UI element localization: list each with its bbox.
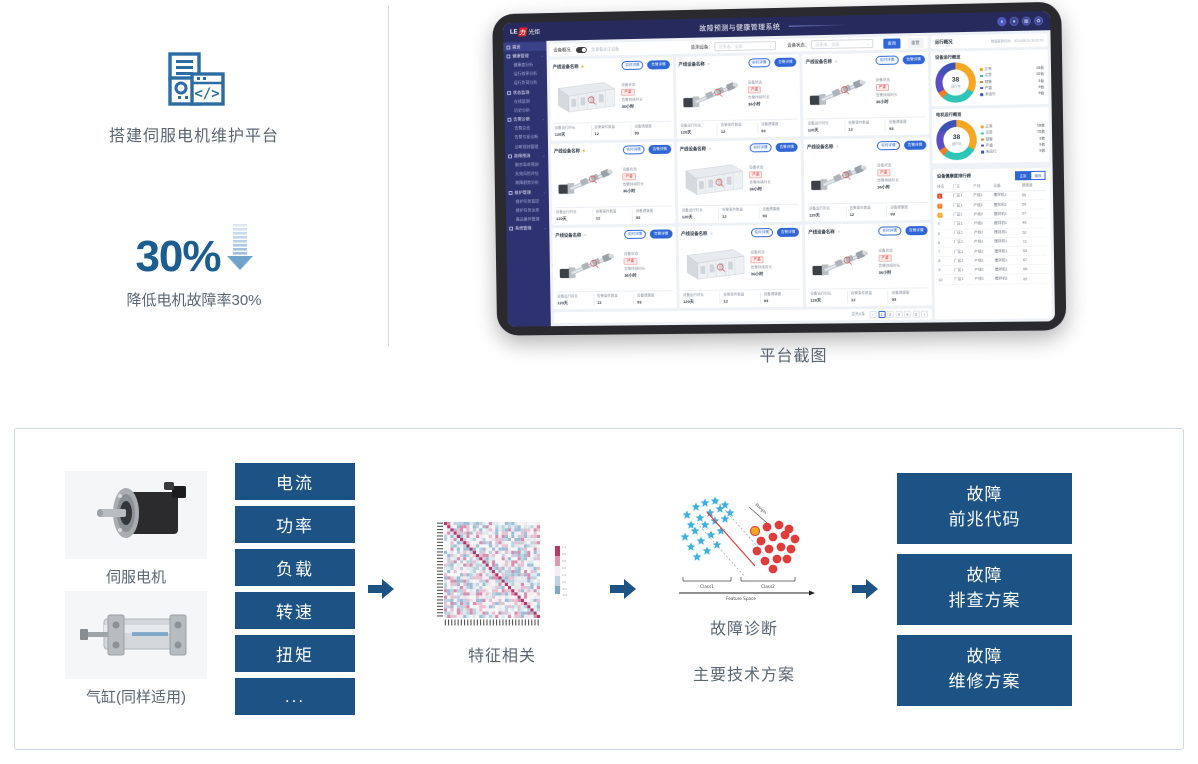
heart-icon <box>506 54 510 58</box>
metric-value: 12 <box>851 297 888 302</box>
legend-label: 正常 <box>985 124 992 129</box>
svg-text:0.6: 0.6 <box>562 559 566 563</box>
rank-badge: 1 <box>937 194 942 199</box>
card-title: 产线设备名称 <box>678 61 704 68</box>
figure-scatter: Margin Class1 Class2 Feature Space 故障诊断 … <box>649 493 839 685</box>
card-title: 产线设备名称 <box>681 230 707 236</box>
legend-item: 预警 3台 <box>981 136 1045 142</box>
status-label: 设备状态 <box>878 248 928 254</box>
realtime-detail-button[interactable]: 实时详情 <box>621 61 643 70</box>
user-icon[interactable]: ● <box>1009 17 1018 26</box>
donut-chart: 38 运行中 <box>936 119 977 160</box>
cell-line: 产线1 <box>974 228 994 238</box>
status-filter-label: 设备状态： <box>787 42 809 48</box>
card-footer: 设备运行时长 120天 告警事件数量 12 设备健康度 93 <box>681 204 799 221</box>
legend-color-dot <box>981 151 984 154</box>
arrow-step-2 <box>597 578 649 600</box>
donut-row: 38 运行中 正常 18台 注意 15台 预警 3台 严重 9台 <box>936 118 1045 160</box>
pager-page-4[interactable]: 4 <box>904 311 911 318</box>
cell-score: 52 <box>1022 227 1046 237</box>
cell-score: 67 <box>1023 255 1047 265</box>
card-metrics: 设备状态 严重 告警持续时长 36小时 <box>622 156 671 204</box>
technical-solution-panel: 伺服电机 <box>14 428 1184 750</box>
main-region: 设备概况 仅查看关注设备 监测设备： 可多选、全选 ⌄ <box>546 30 1055 326</box>
screenshot-caption: 平台截图 <box>389 342 1198 366</box>
overview-title: 运行概况 <box>935 39 953 45</box>
legend-label: 预警 <box>986 137 993 142</box>
rank-header: 设备健康度排行榜 正序倒序 <box>937 171 1046 182</box>
pager-page-1[interactable]: 1 <box>878 311 885 318</box>
device-card[interactable]: 产线设备名称 ★ 实时详情 告警详情 设备状态 严重 告警持续时长 36小时 设… <box>552 226 676 309</box>
status-label: 设备状态 <box>877 162 927 168</box>
realtime-detail-button[interactable]: 实时详情 <box>878 226 901 235</box>
param-box-2: 负载 <box>235 549 355 586</box>
donut-legend: 正常 18台 注意 15台 预警 3台 严重 9台 未运行 9台 <box>980 66 1045 97</box>
legend-item: 注意 15台 <box>980 72 1044 78</box>
metric-value: 12 <box>595 131 631 137</box>
cell-area: 厂区1 <box>953 219 973 229</box>
metric-value: 93 <box>761 128 798 134</box>
metric-label: 告警事件数量 <box>851 291 888 296</box>
metric-label: 设备运行时长 <box>557 294 593 299</box>
pagination[interactable]: 总共9条 ‹ 12345 › <box>554 308 933 323</box>
realtime-detail-button[interactable]: 实时详情 <box>749 143 771 152</box>
metric-label: 设备运行时长 <box>808 121 845 127</box>
cell-area: 厂区1 <box>953 191 973 201</box>
arrow-right-icon <box>368 578 394 600</box>
sidebar-item-label: 备品备件管理 <box>516 216 540 222</box>
panel-title: 电机运行概览 <box>936 110 1045 118</box>
cell-rank: 10 <box>938 275 954 284</box>
legend-value: 18台 <box>1036 66 1044 71</box>
favorite-star-icon[interactable]: ★ <box>580 63 584 69</box>
app-title: 故障预测与健康管理系统 <box>699 23 780 32</box>
duration-label: 告警持续时长 <box>878 263 928 269</box>
output-line1: 故障 <box>967 645 1003 670</box>
legend-item: 未运行 9台 <box>980 91 1044 97</box>
device-image <box>555 241 621 289</box>
cell-area: 厂区1 <box>954 265 974 274</box>
sidebar-item-label: 系统管理 <box>515 226 531 232</box>
legend-value: 9台 <box>1039 142 1045 147</box>
footer-metric: 告警事件数量 12 <box>719 292 760 304</box>
favorite-star-icon[interactable]: ★ <box>835 143 839 149</box>
status-label: 设备状态 <box>623 166 672 172</box>
duration-value: 36小时 <box>879 269 929 276</box>
legend-color-dot <box>980 93 983 96</box>
legend-color-dot <box>980 87 983 90</box>
cell-score: 67 <box>1022 209 1046 219</box>
status-select-value: 可多选、全选 <box>815 41 839 48</box>
metric-label: 告警事件数量 <box>597 294 633 299</box>
cell-area: 厂区1 <box>954 228 974 238</box>
pager-page-2[interactable]: 2 <box>887 311 894 318</box>
legend-label: 严重 <box>985 86 992 91</box>
legend-item: 注意 15台 <box>981 130 1045 136</box>
wrench-icon <box>509 191 513 195</box>
sidebar-item-label: 历史分析 <box>514 107 530 113</box>
cell-score: 46 <box>1022 218 1046 228</box>
donut-panels: 设备运行概览 38 运行中 正常 18台 注意 15台 预警 3台 <box>931 49 1050 166</box>
rank-badge: 2 <box>937 203 942 208</box>
cell-line: 产线2 <box>974 210 994 220</box>
param-box-1: 功率 <box>235 506 355 543</box>
footer-metric: 告警事件数量 12 <box>844 120 885 133</box>
device-select[interactable]: 可多选、全选 ⌄ <box>714 41 776 51</box>
rank-column-header: 排名 <box>937 183 953 192</box>
footer-metric: 设备健康度 93 <box>633 293 673 305</box>
footer-metric: 设备健康度 93 <box>630 124 670 137</box>
metric-label: 设备运行时长 <box>682 208 718 213</box>
favorite-star-icon[interactable]: ★ <box>837 229 841 235</box>
legend-color-dot <box>981 138 984 141</box>
status-badge: 严重 <box>876 83 889 90</box>
legend-label: 未运行 <box>985 92 996 97</box>
cell-device: 搅拌机1 <box>994 209 1022 219</box>
card-title: 产线设备名称 <box>806 58 832 65</box>
footer-metric: 设备运行时长 120天 <box>556 294 593 306</box>
cell-area: 厂区1 <box>954 238 974 248</box>
cell-score: 72 <box>1023 237 1047 247</box>
sidebar-item-label: 健康管理 <box>512 53 528 59</box>
metric-value: 12 <box>722 213 758 218</box>
arrow-right-icon <box>610 578 636 600</box>
sidebar-item-label: 健康度分析 <box>513 62 533 68</box>
alarm-detail-button[interactable]: 告警详情 <box>649 145 671 154</box>
sidebar-item-20[interactable]: 系统管理⌄ <box>506 224 549 234</box>
cell-area: 厂区1 <box>953 201 973 211</box>
card-metrics: 设备状态 严重 告警持续时长 36小时 <box>875 66 925 115</box>
metric-label: 设备健康度 <box>761 122 798 128</box>
metric-label: 告警事件数量 <box>722 207 758 213</box>
cell-rank: 3 <box>937 210 953 219</box>
cell-line: 产线1 <box>975 274 995 283</box>
heatmap-caption: 特征相关 <box>468 642 536 666</box>
table-row[interactable]: 10 厂区1 产线1 搅拌机1 82 <box>938 274 1047 284</box>
rank-tab[interactable]: 正序 <box>1015 171 1030 180</box>
metric-value: 120天 <box>557 300 593 306</box>
metric-label: 设备健康度 <box>637 293 673 298</box>
sidebar-item-label: 维护任务监控 <box>516 198 540 204</box>
overview-panel-1: 电机运行概览 38 运行中 正常 18台 注意 15台 预警 3台 <box>932 107 1050 163</box>
card-title: 产线设备名称 <box>555 232 581 238</box>
percent-caption: 降低电机故障率30% <box>126 289 261 310</box>
bell-icon[interactable]: ♦ <box>997 17 1006 26</box>
chevron-down-icon: ⌄ <box>769 43 772 48</box>
rank-sort-tabs[interactable]: 正序倒序 <box>1015 171 1045 181</box>
cell-line: 产线1 <box>973 200 993 210</box>
metric-label: 设备健康度 <box>890 205 927 211</box>
status-label: 设备状态 <box>876 77 926 83</box>
footer-metric: 告警事件数量 12 <box>718 207 759 220</box>
realtime-detail-button[interactable]: 实时详情 <box>877 141 900 150</box>
card-metrics: 设备状态 严重 告警持续时长 36小时 <box>624 240 673 288</box>
duration-value: 36小时 <box>623 187 672 194</box>
cell-rank: 4 <box>938 219 954 228</box>
sidebar-item-label: 告警总览 <box>514 126 530 132</box>
cell-rank: 1 <box>937 192 953 201</box>
legend-color-dot <box>980 74 983 77</box>
card-footer: 设备运行时长 120天 告警事件数量 12 设备健康度 93 <box>808 202 928 219</box>
settings-icon <box>509 227 513 231</box>
sidebar[interactable]: 首页健康管理⌄健康度分析运行效率分析运行负荷分析状态监测在线监测历史分析告警诊断… <box>503 41 550 327</box>
duration-label: 告警持续时长 <box>621 96 670 102</box>
metric-value: 120天 <box>682 214 718 220</box>
card-metrics: 设备状态 严重 告警持续时长 36小时 <box>878 237 928 286</box>
favorite-star-icon[interactable]: ★ <box>582 148 586 154</box>
alarm-detail-button[interactable]: 告警详情 <box>902 55 925 65</box>
platform-code-icon: </> <box>161 52 227 108</box>
realtime-detail-button[interactable]: 实时详情 <box>751 228 773 237</box>
metric-label: 设备健康度 <box>889 119 926 125</box>
legend-value: 15台 <box>1036 72 1044 77</box>
card-body: 设备状态 严重 告警持续时长 36小时 <box>680 152 799 206</box>
alarm-detail-button[interactable]: 告警详情 <box>650 229 672 238</box>
cell-score: 53 <box>1023 246 1047 256</box>
metric-label: 告警事件数量 <box>594 125 630 131</box>
footer-metric: 设备健康度 93 <box>632 208 672 221</box>
sidebar-item-label: 剩余寿命预测 <box>515 162 539 168</box>
metric-label: 设备健康度 <box>636 208 672 213</box>
card-metrics: 设备状态 严重 告警持续时长 36小时 <box>621 71 670 120</box>
footer-metric: 设备运行时长 120天 <box>554 125 591 138</box>
device-card[interactable]: 产线设备名称 ★ 实时详情 告警详情 设备状态 严重 告警持续时长 36小时 设… <box>804 137 931 221</box>
svg-text:0.0: 0.0 <box>562 580 566 584</box>
realtime-detail-button[interactable]: 实时详情 <box>748 58 770 67</box>
scatter-caption: 故障诊断 <box>710 615 778 639</box>
donut-center: 38 运行中 <box>935 62 976 103</box>
chevron-down-icon: ⌄ <box>544 226 547 230</box>
metric-label: 设备健康度 <box>762 207 799 213</box>
cell-device: 搅拌机1 <box>995 274 1023 284</box>
metric-value: 12 <box>597 300 633 305</box>
update-time: 数据更新时间：2020/05/20 08:00:00 <box>991 37 1044 43</box>
status-label: 设备状态 <box>749 164 798 170</box>
status-badge: 严重 <box>624 257 637 264</box>
device-card[interactable]: 产线设备名称 ★ 实时详情 告警详情 设备状态 严重 告警持续时长 36小时 设… <box>675 55 800 139</box>
grid-icon[interactable]: ▦ <box>1022 16 1031 25</box>
metric-value: 12 <box>723 298 759 303</box>
alarm-detail-button[interactable]: 告警详情 <box>776 143 798 152</box>
rank-tab[interactable]: 倒序 <box>1030 171 1045 180</box>
device-card[interactable]: 产线设备名称 ★ 实时详情 告警详情 设备状态 严重 告警持续时长 36小时 <box>550 57 674 141</box>
legend-label: 未运行 <box>986 149 997 154</box>
footer-metric: 设备健康度 93 <box>885 119 926 132</box>
device-image <box>553 72 619 121</box>
overview-label: 设备概况 <box>553 47 570 53</box>
logo-text-le: LE <box>510 29 518 35</box>
svg-text:Class1: Class1 <box>700 584 714 589</box>
metric-value: 93 <box>764 298 801 303</box>
parameter-column: 电流功率负载转速扭矩... <box>235 463 355 715</box>
legend-item: 严重 9台 <box>980 85 1044 91</box>
favorite-star-icon[interactable]: ★ <box>708 146 712 152</box>
status-select[interactable]: 可多选、全选 ⌄ <box>811 39 873 49</box>
cell-device: 搅拌机1 <box>994 218 1022 228</box>
footer-metric: 设备健康度 93 <box>757 122 798 135</box>
metric-value: 120天 <box>810 297 847 303</box>
focus-toggle[interactable] <box>576 46 587 52</box>
status-badge: 严重 <box>878 254 891 261</box>
footer-metric: 设备运行时长 120天 <box>555 210 592 222</box>
pager-total: 总共9条 <box>851 312 865 317</box>
logo-mark: 力 <box>518 27 528 36</box>
metric-label: 设备运行时长 <box>810 291 847 296</box>
device-card[interactable]: 产线设备名称 ★ 实时详情 告警详情 设备状态 严重 告警持续时长 36小时 <box>678 225 803 308</box>
footer-metric: 设备健康度 93 <box>758 207 799 220</box>
percent-block: 30% <box>135 224 252 279</box>
cell-score: 68 <box>1023 265 1047 275</box>
metric-value: 93 <box>890 211 927 217</box>
down-arrow-icon <box>227 224 253 277</box>
status-badge: 严重 <box>877 169 890 176</box>
svg-text:0.2: 0.2 <box>562 573 566 577</box>
svg-text:-0.2: -0.2 <box>562 587 567 591</box>
rank-badge: 3 <box>937 212 942 217</box>
device-filter: 监测设备： 可多选、全选 ⌄ <box>691 41 777 52</box>
chevron-down-icon: ⌄ <box>866 41 869 46</box>
pager-page-3[interactable]: 3 <box>895 311 902 318</box>
footer-metric: 设备健康度 93 <box>886 205 927 218</box>
arrow-right-icon <box>852 578 878 600</box>
search-button[interactable]: 查询 <box>883 38 900 48</box>
favorite-star-icon[interactable]: ★ <box>834 58 838 64</box>
sidebar-item-label: 运行负荷分析 <box>514 80 538 86</box>
alarm-detail-button[interactable]: 告警详情 <box>777 228 800 237</box>
card-footer: 设备运行时长 120天 告警事件数量 12 设备健康度 93 <box>679 119 797 136</box>
output-line2: 维修方案 <box>949 670 1021 695</box>
sidebar-item-label: 运行效率分析 <box>514 71 538 77</box>
legend-value: 9台 <box>1039 148 1045 153</box>
duration-label: 告警持续时长 <box>623 181 672 187</box>
device-card[interactable]: 产线设备名称 ★ 实时详情 告警详情 设备状态 严重 告警持续时长 36小时 设… <box>551 142 675 225</box>
metric-value: 93 <box>637 299 673 304</box>
device-image <box>679 70 746 119</box>
metric-label: 设备健康度 <box>764 292 801 297</box>
cell-rank: 9 <box>938 266 954 275</box>
sidebar-item-label: 诊断规则管理 <box>515 144 539 150</box>
card-title: 产线设备名称 <box>807 144 834 150</box>
cell-area: 厂区1 <box>954 275 974 284</box>
metric-label: 告警事件数量 <box>721 122 757 128</box>
percent-value: 30% <box>135 235 220 279</box>
cell-device: 搅拌机1 <box>995 265 1023 275</box>
device-image <box>680 154 747 203</box>
footer-metric: 告警事件数量 12 <box>847 291 888 303</box>
gear-icon[interactable]: ✿ <box>1034 16 1043 25</box>
output-column: 故障 前兆代码 故障 排查方案 故障 维修方案 <box>897 473 1072 706</box>
device-card[interactable]: 产线设备名称 ★ 实时详情 告警详情 设备状态 严重 告警持续时长 36小时 <box>677 140 802 224</box>
toggle-hint: 仅查看关注设备 <box>591 46 619 53</box>
card-body: 设备状态 严重 告警持续时长 36小时 <box>807 150 927 204</box>
duration-value: 36小时 <box>751 270 800 277</box>
duration-label: 告警持续时长 <box>876 92 926 98</box>
legend-value: 3台 <box>1039 136 1045 141</box>
legend-color-dot <box>981 126 984 129</box>
status-badge: 严重 <box>748 86 761 93</box>
svg-text:1.0: 1.0 <box>562 545 566 549</box>
donut-row: 38 运行中 正常 18台 注意 15台 预警 3台 严重 9台 <box>935 61 1044 103</box>
footer-metric: 设备运行时长 120天 <box>807 121 845 134</box>
alarm-detail-button[interactable]: 告警详情 <box>904 140 927 149</box>
duration-value: 36小时 <box>622 102 671 109</box>
chevron-down-icon: ⌄ <box>543 190 546 194</box>
duration-value: 36小时 <box>749 185 798 192</box>
footer-metric: 告警事件数量 12 <box>590 125 630 138</box>
flow-diagram: 伺服电机 <box>15 429 1183 749</box>
duration-label: 告警持续时长 <box>748 94 797 100</box>
card-title: 产线设备名称 <box>554 148 580 154</box>
pager-prev[interactable]: ‹ <box>869 311 876 318</box>
alarm-detail-button[interactable]: 告警详情 <box>647 60 669 69</box>
donut-center: 38 运行中 <box>936 119 977 160</box>
metric-value: 120天 <box>555 131 591 138</box>
device-card[interactable]: 产线设备名称 ★ 实时详情 告警详情 设备状态 严重 告警持续时长 36小时 设… <box>802 52 929 137</box>
sidebar-item-label: 告警专家诊断 <box>515 135 539 141</box>
cell-area: 厂区1 <box>953 210 973 220</box>
card-body: 设备状态 严重 告警持续时长 36小时 <box>553 69 671 123</box>
legend-label: 注意 <box>985 73 992 78</box>
cell-device: 搅拌机1 <box>994 237 1022 247</box>
device-image <box>808 238 875 287</box>
footer-metric: 告警事件数量 12 <box>592 209 632 221</box>
realtime-detail-button[interactable]: 实时详情 <box>623 145 645 154</box>
health-rank-panel: 设备健康度排行榜 正序倒序 排名厂区产线设备健康度 1 厂区1 产线1 搅拌机1… <box>933 168 1052 320</box>
pager-page-5[interactable]: 5 <box>912 311 919 318</box>
predict-icon <box>508 154 512 158</box>
legend-item: 正常 18台 <box>981 123 1045 129</box>
status-badge: 严重 <box>751 256 764 263</box>
footer-metric: 设备运行时长 120天 <box>808 206 846 219</box>
legend-value: 15台 <box>1037 130 1045 135</box>
alarm-detail-button[interactable]: 告警详情 <box>774 58 796 67</box>
pager-next[interactable]: › <box>921 310 928 317</box>
device-card[interactable]: 产线设备名称 ★ 实时详情 告警详情 设备状态 严重 告警持续时长 36小时 设… <box>805 223 932 307</box>
legend-value: 9台 <box>1038 85 1044 90</box>
metric-value: 120天 <box>808 127 845 134</box>
rank-column-header: 健康度 <box>1022 182 1046 191</box>
card-footer: 设备运行时长 120天 告警事件数量 12 设备健康度 93 <box>555 206 672 223</box>
cell-score: 82 <box>1023 274 1047 284</box>
favorite-star-icon[interactable]: ★ <box>707 61 711 67</box>
favorite-star-icon[interactable]: ★ <box>583 232 587 238</box>
card-title: 产线设备名称 <box>808 229 835 235</box>
cell-line: 产线1 <box>974 237 994 247</box>
metric-value: 120天 <box>683 299 719 305</box>
overview-topbar: 运行概况 数据更新时间：2020/05/20 08:00:00 <box>931 33 1048 49</box>
footer-metric: 设备运行时长 120天 <box>681 208 718 220</box>
param-box-3: 转速 <box>235 592 355 629</box>
realtime-detail-button[interactable]: 实时详情 <box>876 56 899 65</box>
device-select-value: 可多选、全选 <box>718 43 742 49</box>
alarm-detail-button[interactable]: 告警详情 <box>905 226 928 235</box>
logo-text-cn: 光炬 <box>528 27 540 36</box>
realtime-detail-button[interactable]: 实时详情 <box>624 230 646 239</box>
cell-device: 搅拌机1 <box>994 228 1022 238</box>
cell-rank: 6 <box>938 238 954 247</box>
cell-rank: 7 <box>938 247 954 256</box>
cell-device: 搅拌机2 <box>994 200 1022 210</box>
reset-button[interactable]: 重置 <box>907 37 924 47</box>
favorite-star-icon[interactable]: ★ <box>709 230 713 236</box>
sidebar-item-label: 维护任务派单 <box>516 207 540 213</box>
metric-value: 12 <box>721 128 757 134</box>
cell-device: 搅拌机1 <box>994 191 1022 201</box>
output-box-2: 故障 维修方案 <box>897 635 1072 706</box>
cell-score: 55 <box>1022 190 1046 200</box>
monitor-icon <box>507 91 511 95</box>
svg-text:</>: </> <box>194 86 219 102</box>
